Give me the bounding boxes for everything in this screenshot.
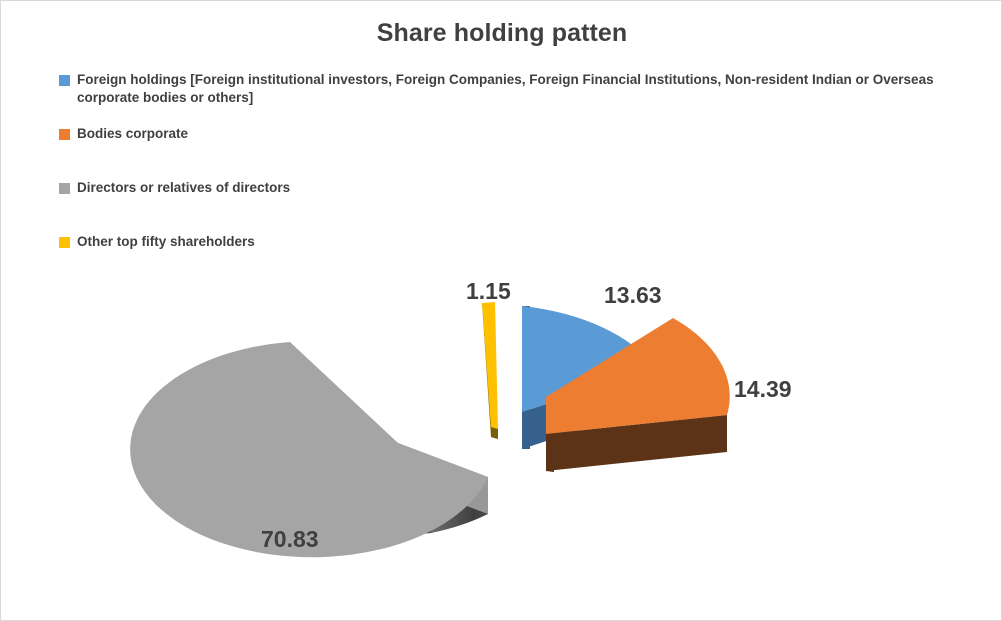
legend-swatch-other-top-fifty [59,237,70,248]
pie-chart-plot-area [1,256,1002,621]
legend-label-foreign-holdings: Foreign holdings [Foreign institutional … [77,71,967,106]
chart-canvas: Share holding patten Foreign holdings [F… [0,0,1002,621]
data-label-directors: 70.83 [261,526,319,553]
data-label-foreign-holdings: 13.63 [604,282,662,309]
data-label-other-top-fifty: 1.15 [466,278,511,305]
pie-slice-other-top-fifty[interactable] [482,302,498,439]
legend-label-bodies-corporate: Bodies corporate [77,125,188,143]
legend-swatch-directors [59,183,70,194]
chart-legend: Foreign holdings [Foreign institutional … [59,71,969,287]
legend-label-directors: Directors or relatives of directors [77,179,290,197]
pie-chart-svg [1,256,1002,621]
page-title: Share holding patten [1,19,1002,48]
pie-slice-directors[interactable] [130,342,488,557]
legend-swatch-bodies-corporate [59,129,70,140]
legend-swatch-foreign-holdings [59,75,70,86]
data-label-bodies-corporate: 14.39 [734,376,792,403]
legend-item-foreign-holdings[interactable]: Foreign holdings [Foreign institutional … [59,71,969,125]
legend-label-other-top-fifty: Other top fifty shareholders [77,233,255,251]
legend-item-directors[interactable]: Directors or relatives of directors [59,179,969,233]
legend-item-bodies-corporate[interactable]: Bodies corporate [59,125,969,179]
